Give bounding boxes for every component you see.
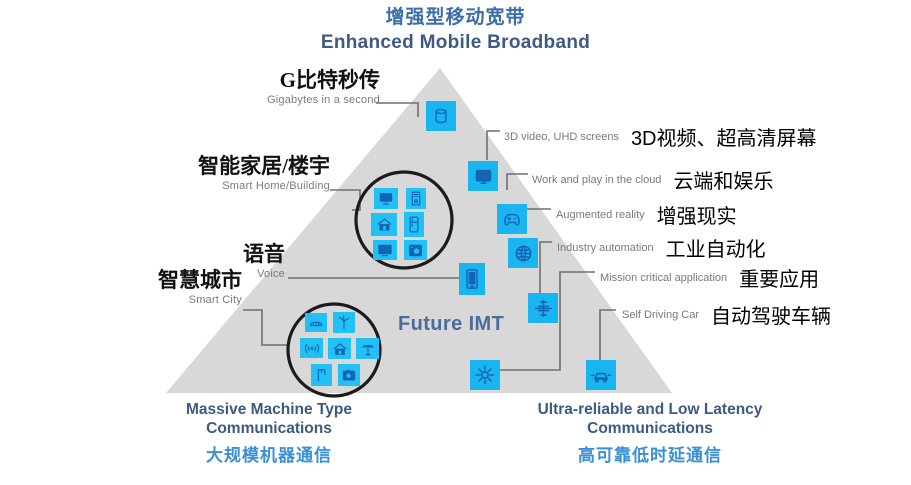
label-smart-city: 智慧城市 Smart City	[20, 264, 242, 306]
tower-pc-icon	[406, 188, 426, 209]
road-icon	[311, 364, 332, 386]
label-smart-home-en: Smart Home/Building	[20, 180, 330, 192]
label-ar-en: Augmented reality	[556, 209, 645, 221]
label-ar-cn: 增强现实	[657, 200, 737, 229]
label-smart-city-cn: 智慧城市	[20, 264, 242, 294]
label-self-driving-en: Self Driving Car	[622, 309, 699, 321]
label-gigabytes: G比特秒传 Gigabytes in a second	[60, 64, 380, 106]
label-mission-critical-en: Mission critical application	[600, 272, 727, 284]
corner-urllc-en-line1: Ultra-reliable and Low Latency	[480, 400, 820, 419]
gamepad-icon	[497, 204, 527, 234]
label-3d-video-cn: 3D视频、超高清屏幕	[631, 122, 817, 151]
label-smart-city-en: Smart City	[20, 294, 242, 306]
label-smart-home-cn: 智能家居/楼宇	[20, 150, 330, 180]
globe-gear-icon	[508, 238, 538, 268]
home-icon	[371, 213, 397, 236]
corner-mmtc-cn: 大规模机器通信	[104, 445, 434, 466]
desktop-icon	[374, 188, 398, 209]
monitor-icon	[468, 161, 498, 191]
corner-urllc-en-line2: Communications	[480, 419, 820, 438]
corner-mmtc-en-line1: Massive Machine Type	[104, 400, 434, 419]
corner-urllc: Ultra-reliable and Low Latency Communica…	[480, 400, 820, 466]
database-icon	[426, 101, 456, 131]
label-industry-automation: Industry automation 工业自动化	[557, 233, 766, 262]
streetlight-icon	[356, 338, 379, 359]
sensor-node-icon	[470, 360, 500, 390]
page-title-cn: 增强型移动宽带	[0, 2, 911, 29]
tv-icon	[373, 240, 397, 260]
label-ar: Augmented reality 增强现实	[556, 200, 737, 229]
label-3d-video: 3D video, UHD screens 3D视频、超高清屏幕	[504, 122, 817, 151]
label-cloud-cn: 云端和娱乐	[673, 165, 773, 194]
label-gigabytes-en: Gigabytes in a second	[60, 94, 380, 106]
label-3d-video-en: 3D video, UHD screens	[504, 131, 619, 143]
smartphone-icon	[459, 263, 485, 295]
diagram-canvas: 增强型移动宽带 Enhanced Mobile Broadband Future…	[0, 0, 911, 485]
corner-urllc-cn: 高可靠低时延通信	[480, 445, 820, 466]
label-cloud-en: Work and play in the cloud	[532, 174, 661, 186]
label-industry-automation-cn: 工业自动化	[666, 233, 766, 262]
washer-icon	[404, 240, 427, 260]
signal-icon	[300, 338, 323, 358]
label-mission-critical-cn: 重要应用	[739, 263, 819, 292]
label-mission-critical: Mission critical application 重要应用	[600, 263, 819, 292]
label-self-driving-cn: 自动驾驶车辆	[711, 300, 831, 329]
center-label: Future IMT	[398, 313, 504, 336]
fridge-icon	[404, 212, 424, 237]
industry-icon	[528, 293, 558, 323]
corner-mmtc-en-line2: Communications	[104, 419, 434, 438]
page-title-en: Enhanced Mobile Broadband	[0, 32, 911, 54]
label-industry-automation-en: Industry automation	[557, 242, 654, 254]
city-home-icon	[328, 338, 351, 359]
label-cloud: Work and play in the cloud 云端和娱乐	[532, 165, 773, 194]
camera-icon	[338, 364, 360, 386]
bridge-icon	[305, 313, 327, 332]
label-smart-home: 智能家居/楼宇 Smart Home/Building	[20, 150, 330, 192]
car-icon	[586, 360, 616, 390]
windmill-icon	[333, 312, 355, 333]
corner-mmtc: Massive Machine Type Communications 大规模机…	[104, 400, 434, 466]
label-self-driving: Self Driving Car 自动驾驶车辆	[622, 300, 831, 329]
label-gigabytes-cn: G比特秒传	[60, 64, 380, 94]
